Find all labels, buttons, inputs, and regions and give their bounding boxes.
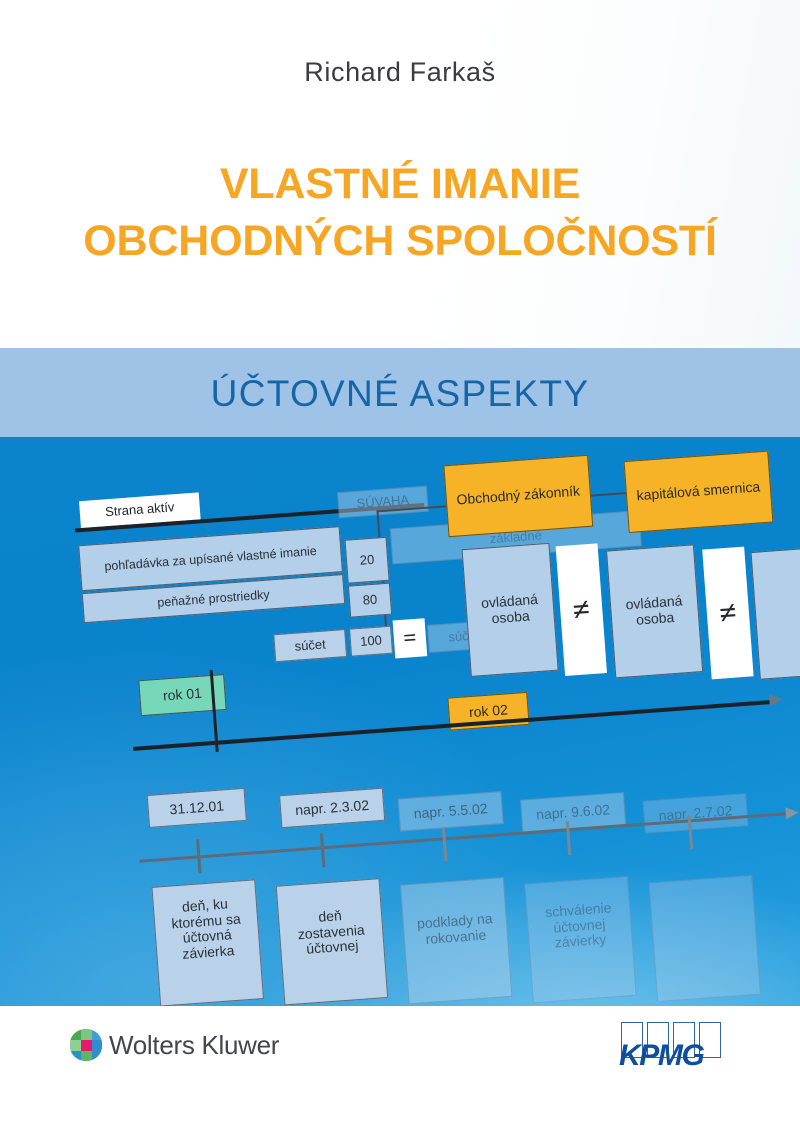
publisher-name: Wolters Kluwer <box>109 1030 279 1061</box>
title-line-2: OBCHODNÝCH SPOLOČNOSTÍ <box>0 217 800 265</box>
diagram-plane: Strana aktív SÚVAHA pohľadávka za upísan… <box>0 437 800 1006</box>
timeline-tick-1 <box>320 833 325 867</box>
balance-sheet-title-label: SÚVAHA <box>337 486 429 519</box>
law-box-0: Obchodný zákonník <box>443 455 593 537</box>
book-cover: Richard Farkaš VLASTNÉ IMANIE OBCHODNÝCH… <box>0 0 800 1131</box>
law-box-1: kapitálová smernica <box>624 451 774 533</box>
asset-row-value-0: 20 <box>345 537 390 584</box>
subtitle: ÚČTOVNÉ ASPEKTY <box>0 373 800 415</box>
title-line-1: VLASTNÉ IMANIE <box>220 160 580 208</box>
timeline-date-1: napr. 2.3.02 <box>279 788 385 829</box>
timeline-tick-2 <box>442 827 447 861</box>
entity-box-1: ovládaná osoba <box>606 544 703 678</box>
publisher-logo: Wolters Kluwer <box>70 1029 279 1061</box>
timeline-event-3: schválenie účtovnej závierky <box>524 876 637 1003</box>
wolters-kluwer-globe-icon <box>70 1029 102 1061</box>
not-equal-icon-1: ≠ <box>702 547 753 680</box>
entity-box-2-partial <box>751 546 800 680</box>
timeline-arrowhead-main <box>769 693 783 706</box>
timeline-arrowhead-secondary <box>785 806 799 819</box>
timeline-event-2: podklady na rokovanie <box>400 877 513 1004</box>
timeline-event-4-blank <box>648 875 761 1002</box>
partner-name: KPMG <box>619 1039 731 1073</box>
total-left-value: 100 <box>349 626 393 657</box>
author-name: Richard Farkaš <box>0 57 800 88</box>
partner-logo: KPMG <box>621 1022 729 1074</box>
timeline-date-2: napr. 5.5.02 <box>398 791 504 832</box>
page-title: VLASTNÉ IMANIE OBCHODNÝCH SPOLOČNOSTÍ <box>0 160 800 265</box>
diagram-illustration: Strana aktív SÚVAHA pohľadávka za upísan… <box>0 437 800 1006</box>
equals-operator: = <box>393 618 428 658</box>
timeline-event-0: deň, ku ktorému sa účtovná závierka <box>151 879 264 1006</box>
not-equal-icon-0: ≠ <box>556 543 607 676</box>
total-left-label: súčet <box>273 629 347 662</box>
timeline-event-1: deň zostavenia účtovnej <box>276 878 389 1005</box>
timeline-date-0: 31.12.01 <box>147 788 247 828</box>
timeline-date-4: napr. 2.7.02 <box>642 793 748 834</box>
entity-box-0: ovládaná osoba <box>462 543 559 677</box>
asset-row-value-1: 80 <box>348 583 392 618</box>
